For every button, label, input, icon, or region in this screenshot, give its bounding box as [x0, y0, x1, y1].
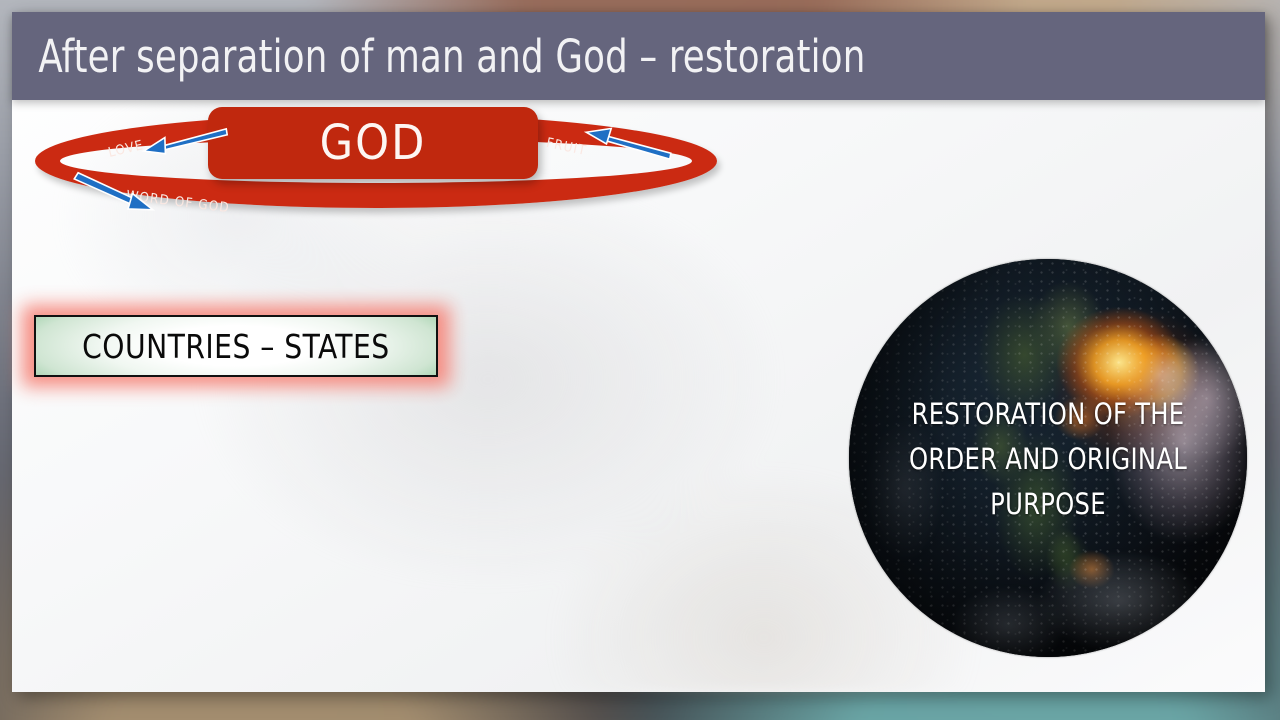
god-box[interactable]: GOD	[208, 107, 538, 179]
slide-viewport: After separation of man and God – restor…	[0, 0, 1280, 720]
arrow-left-icon-fruit	[582, 130, 678, 156]
god-cycle-diagram: GOD LOVE WORD OF GOD FRUIT	[30, 108, 730, 218]
arrow-left-icon-love	[140, 130, 236, 156]
earth-globe-icon: RESTORATION OF THE ORDER AND ORIGINAL PU…	[849, 259, 1247, 657]
god-box-label: GOD	[320, 115, 427, 171]
countries-states-box[interactable]: COUNTRIES – STATES	[34, 315, 438, 377]
slide-title-bar: After separation of man and God – restor…	[12, 12, 1265, 100]
arrow-right-icon-word-of-god	[68, 178, 164, 208]
page-title: After separation of man and God – restor…	[12, 30, 865, 83]
globe-caption: RESTORATION OF THE ORDER AND ORIGINAL PU…	[863, 392, 1233, 527]
countries-states-label: COUNTRIES – STATES	[82, 327, 390, 366]
